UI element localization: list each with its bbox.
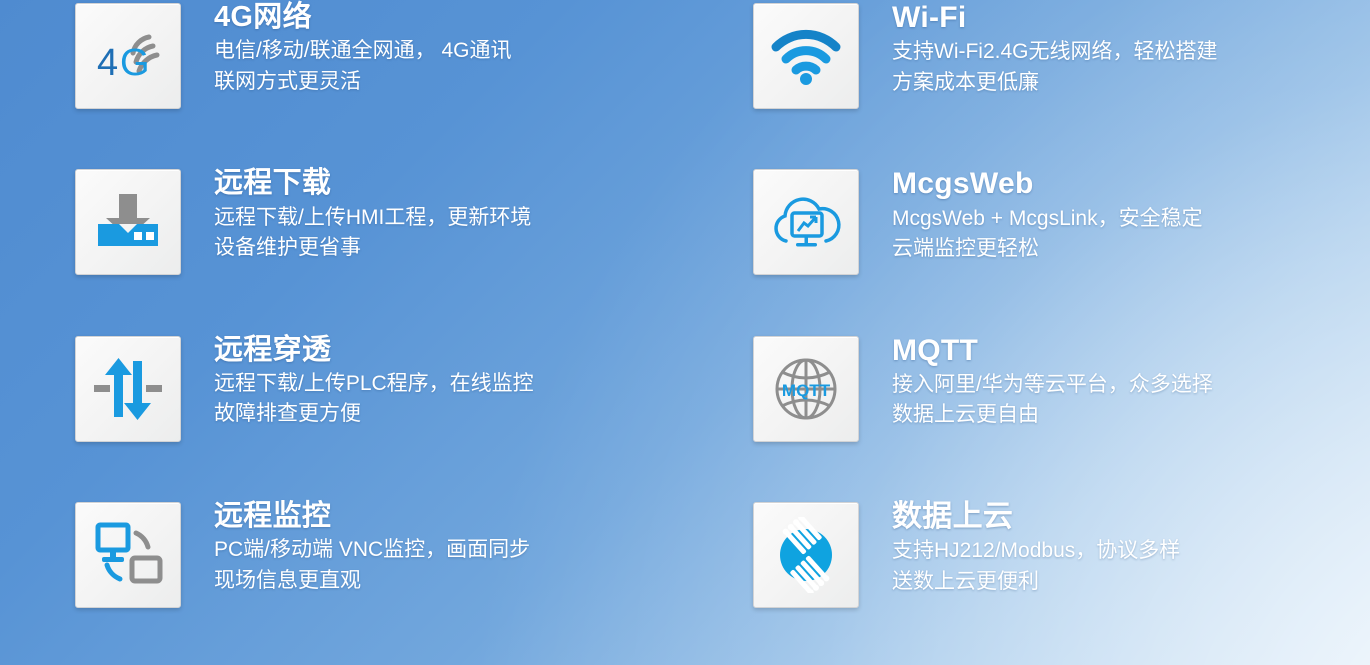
feature-title: McgsWeb: [892, 168, 1203, 200]
feature-column-right: Wi-Fi 支持Wi-Fi2.4G无线网络，轻松搭建 方案成本更低廉: [725, 0, 1370, 665]
feature-line: 电信/移动/联通全网通， 4G通讯: [214, 36, 512, 66]
feature-line: 支持HJ212/Modbus，协议多样: [892, 536, 1180, 566]
feature-title: 远程下载: [214, 168, 531, 199]
feature-text: McgsWeb McgsWeb + McgsLink，安全稳定 云端监控更轻松: [892, 166, 1203, 264]
feature-item-wifi[interactable]: Wi-Fi 支持Wi-Fi2.4G无线网络，轻松搭建 方案成本更低廉: [725, 0, 1370, 166]
feature-grid: 4 G 4G网络 电信/移动/联通全网通， 4G通讯 联网方式更灵活: [0, 0, 1370, 665]
4g-network-icon: 4 G: [89, 17, 167, 95]
feature-text: 远程监控 PC端/移动端 VNC监控，画面同步 现场信息更直观: [214, 499, 530, 596]
feature-description: 接入阿里/华为等云平台，众多选择 数据上云更自由: [892, 370, 1213, 431]
feature-title: MQTT: [892, 335, 1213, 367]
feature-item-remote-monitor[interactable]: 远程监控 PC端/移动端 VNC监控，画面同步 现场信息更直观: [0, 499, 725, 665]
remote-monitor-icon: [90, 517, 166, 593]
data-to-cloud-icon: [768, 517, 844, 593]
feature-text: 数据上云 支持HJ212/Modbus，协议多样 送数上云更便利: [892, 499, 1180, 597]
feature-item-remote-passthrough[interactable]: 远程穿透 远程下载/上传PLC程序，在线监控 故障排查更方便: [0, 333, 725, 499]
feature-description: 支持HJ212/Modbus，协议多样 送数上云更便利: [892, 536, 1180, 597]
svg-text:G: G: [120, 42, 150, 84]
feature-line: 现场信息更直观: [214, 566, 530, 596]
feature-grid-page: 4 G 4G网络 电信/移动/联通全网通， 4G通讯 联网方式更灵活: [0, 0, 1370, 665]
feature-item-mqtt[interactable]: MQTT MQTT 接入阿里/华为等云平台，众多选择 数据上云更自由: [725, 333, 1370, 499]
feature-item-4g-network[interactable]: 4 G 4G网络 电信/移动/联通全网通， 4G通讯 联网方式更灵活: [0, 0, 725, 166]
feature-icon-tile: [753, 3, 859, 109]
feature-text: 4G网络 电信/移动/联通全网通， 4G通讯 联网方式更灵活: [214, 0, 512, 97]
feature-item-remote-download[interactable]: 远程下载 远程下载/上传HMI工程，更新环境 设备维护更省事: [0, 166, 725, 332]
feature-description: McgsWeb + McgsLink，安全稳定 云端监控更轻松: [892, 204, 1203, 265]
feature-icon-tile: [753, 502, 859, 608]
feature-item-mcgsweb[interactable]: McgsWeb McgsWeb + McgsLink，安全稳定 云端监控更轻松: [725, 166, 1370, 332]
feature-icon-tile: [75, 502, 181, 608]
feature-text: Wi-Fi 支持Wi-Fi2.4G无线网络，轻松搭建 方案成本更低廉: [892, 0, 1218, 98]
feature-text: 远程穿透 远程下载/上传PLC程序，在线监控 故障排查更方便: [214, 333, 534, 430]
feature-icon-tile: [753, 169, 859, 275]
feature-icon-tile: [75, 169, 181, 275]
feature-line: 支持Wi-Fi2.4G无线网络，轻松搭建: [892, 37, 1218, 67]
wifi-icon: [768, 23, 844, 89]
feature-description: 电信/移动/联通全网通， 4G通讯 联网方式更灵活: [214, 36, 512, 97]
feature-title: Wi-Fi: [892, 2, 1218, 34]
feature-text: MQTT 接入阿里/华为等云平台，众多选择 数据上云更自由: [892, 333, 1213, 431]
feature-description: 远程下载/上传HMI工程，更新环境 设备维护更省事: [214, 203, 531, 264]
feature-icon-tile: MQTT: [753, 336, 859, 442]
feature-description: 支持Wi-Fi2.4G无线网络，轻松搭建 方案成本更低廉: [892, 37, 1218, 98]
mqtt-globe-icon: MQTT: [769, 352, 843, 426]
feature-line: 联网方式更灵活: [214, 67, 512, 97]
feature-line: 设备维护更省事: [214, 233, 531, 263]
feature-title: 远程穿透: [214, 335, 534, 366]
feature-text: 远程下载 远程下载/上传HMI工程，更新环境 设备维护更省事: [214, 166, 531, 263]
feature-description: 远程下载/上传PLC程序，在线监控 故障排查更方便: [214, 369, 534, 430]
feature-column-left: 4 G 4G网络 电信/移动/联通全网通， 4G通讯 联网方式更灵活: [0, 0, 725, 665]
feature-line: 远程下载/上传HMI工程，更新环境: [214, 203, 531, 233]
remote-download-icon: [92, 186, 164, 258]
feature-line: McgsWeb + McgsLink，安全稳定: [892, 204, 1203, 234]
feature-line: 方案成本更低廉: [892, 68, 1218, 98]
feature-line: 数据上云更自由: [892, 400, 1213, 430]
feature-title: 4G网络: [214, 2, 512, 33]
feature-description: PC端/移动端 VNC监控，画面同步 现场信息更直观: [214, 535, 530, 596]
feature-line: 远程下载/上传PLC程序，在线监控: [214, 369, 534, 399]
remote-passthrough-icon: [90, 351, 166, 427]
cloud-monitor-icon: [766, 189, 846, 255]
feature-line: PC端/移动端 VNC监控，画面同步: [214, 535, 530, 565]
feature-line: 云端监控更轻松: [892, 234, 1203, 264]
svg-text:MQTT: MQTT: [782, 381, 831, 400]
feature-icon-tile: 4 G: [75, 3, 181, 109]
feature-line: 故障排查更方便: [214, 399, 534, 429]
feature-item-data-to-cloud[interactable]: 数据上云 支持HJ212/Modbus，协议多样 送数上云更便利: [725, 499, 1370, 665]
feature-title: 数据上云: [892, 501, 1180, 533]
feature-line: 送数上云更便利: [892, 567, 1180, 597]
feature-icon-tile: [75, 336, 181, 442]
feature-title: 远程监控: [214, 501, 530, 532]
feature-line: 接入阿里/华为等云平台，众多选择: [892, 370, 1213, 400]
svg-text:4: 4: [97, 42, 118, 84]
